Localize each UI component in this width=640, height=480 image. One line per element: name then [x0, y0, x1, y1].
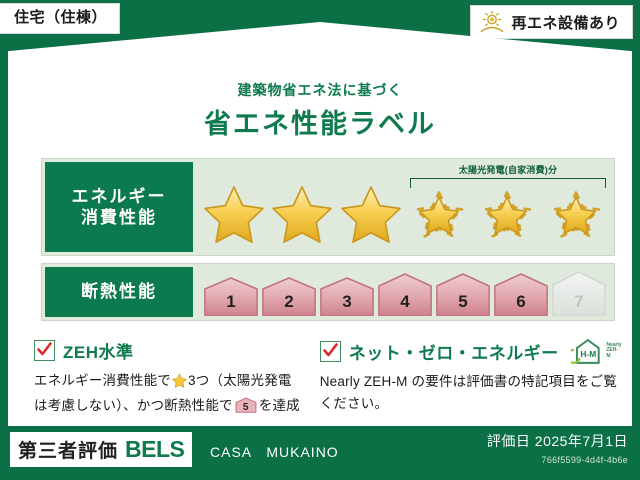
evaluation-id: 766f5599-4d4f-4b6e	[487, 455, 628, 465]
insulation-grade-4: 4	[377, 272, 433, 316]
energy-row-label-line1: エネルギー	[72, 186, 167, 207]
criterion-zeh-title: ZEH水準	[63, 338, 134, 363]
inline-star-icon	[172, 373, 187, 395]
criterion-net-zero-energy: ネット・ゼロ・エネルギー H-M Nearly ZEH-M Nearly	[320, 338, 622, 417]
star-filled	[337, 179, 405, 249]
footer: 第三者評価 BELS CASA MUKAINO 評価日 2025年7月1日 76…	[0, 426, 640, 480]
insulation-grade-5: 5	[435, 272, 491, 316]
insulation-grade-value: 1	[226, 292, 235, 316]
insulation-grade-6: 6	[493, 272, 549, 316]
insulation-grade-value: 2	[284, 292, 293, 316]
energy-row-body: 太陽光発電(自家消費)分	[196, 159, 614, 255]
criterion-zeh-text: エネルギー消費性能で 3つ（太陽光発電は考慮しない）、かつ断熱性能で 5を達成	[34, 370, 302, 417]
criterion-zeh-header: ZEH水準	[34, 338, 302, 363]
zeh-m-logo-subtext: Nearly ZEH-M	[606, 343, 622, 359]
star-filled	[200, 179, 268, 249]
nze-checkbox	[320, 341, 341, 362]
insulation-grade-value: 3	[342, 292, 351, 316]
insulation-row-label-text: 断熱性能	[81, 281, 157, 302]
energy-performance-row: エネルギー 消費性能 太陽光発電(自家消費)分	[41, 158, 615, 256]
insulation-grade-1: 1	[203, 276, 259, 316]
category-tag: 住宅（住棟）	[0, 4, 119, 33]
insulation-grade-value: 6	[516, 292, 525, 316]
inline-insulation-badge-value: 5	[235, 400, 257, 416]
star-solar	[405, 179, 473, 249]
evaluation-info: 評価日 2025年7月1日 766f5599-4d4f-4b6e	[487, 431, 628, 465]
solar-bracket-label: 太陽光発電(自家消費)分	[410, 163, 606, 176]
insulation-grade-2: 2	[261, 276, 317, 316]
label-subtitle: 建築物省エネ法に基づく	[8, 80, 632, 100]
criterion-zeh-text-c: を達成	[259, 398, 300, 413]
insulation-grade-value: 5	[458, 292, 467, 316]
renewable-badge-label: 再エネ設備あり	[511, 12, 620, 33]
energy-star-rating	[200, 179, 610, 249]
criterion-zeh-level: ZEH水準 エネルギー消費性能で 3つ（太陽光発電は考慮しない）、かつ断熱性能で…	[34, 338, 302, 417]
criterion-nze-header: ネット・ゼロ・エネルギー H-M Nearly ZEH-M	[320, 338, 622, 364]
insulation-grade-3: 3	[319, 276, 375, 316]
bels-certification-badge: 第三者評価 BELS	[10, 432, 192, 467]
building-name: CASA MUKAINO	[210, 442, 339, 462]
energy-row-label-line2: 消費性能	[81, 207, 157, 228]
insulation-grade-value: 7	[574, 292, 583, 316]
insulation-grade-7: 7	[551, 270, 607, 316]
criterion-zeh-text-a: エネルギー消費性能で	[34, 373, 171, 388]
insulation-grade-value: 4	[400, 292, 409, 316]
evaluation-date: 評価日 2025年7月1日	[487, 431, 628, 451]
ratings-section: エネルギー 消費性能 太陽光発電(自家消費)分	[41, 158, 615, 328]
bels-en-label: BELS	[125, 436, 184, 463]
svg-text:H-M: H-M	[580, 349, 596, 359]
label-title: 省エネ性能ラベル	[8, 102, 632, 141]
energy-performance-label: 住宅（住棟） 再エネ設備あり 建築物省エネ法に基づく	[0, 0, 640, 480]
energy-row-label: エネルギー 消費性能	[45, 162, 193, 252]
star-solar	[542, 179, 610, 249]
insulation-performance-row: 断熱性能 1	[41, 263, 615, 321]
renewable-equipment-badge: 再エネ設備あり	[471, 6, 632, 38]
zeh-m-logo: H-M Nearly ZEH-M	[571, 338, 622, 364]
sun-renewable-icon	[479, 10, 505, 34]
insulation-row-label: 断熱性能	[45, 267, 193, 317]
star-filled	[268, 179, 336, 249]
zeh-checkbox	[34, 340, 55, 361]
insulation-row-body: 1 2 3	[196, 264, 614, 320]
criterion-nze-title: ネット・ゼロ・エネルギー	[349, 339, 559, 364]
criterion-nze-text: Nearly ZEH-M の要件は評価書の特記項目をご覧ください。	[320, 371, 622, 415]
bels-jp-label: 第三者評価	[18, 436, 118, 463]
main-panel: 建築物省エネ法に基づく 省エネ性能ラベル エネルギー 消費性能 太陽光発電(自家…	[8, 22, 632, 426]
inline-insulation-badge: 5	[235, 397, 257, 413]
zeh-m-sub-line2: ZEH-M	[606, 348, 622, 359]
criteria-section: ZEH水準 エネルギー消費性能で 3つ（太陽光発電は考慮しない）、かつ断熱性能で…	[34, 338, 622, 417]
star-solar	[473, 179, 541, 249]
